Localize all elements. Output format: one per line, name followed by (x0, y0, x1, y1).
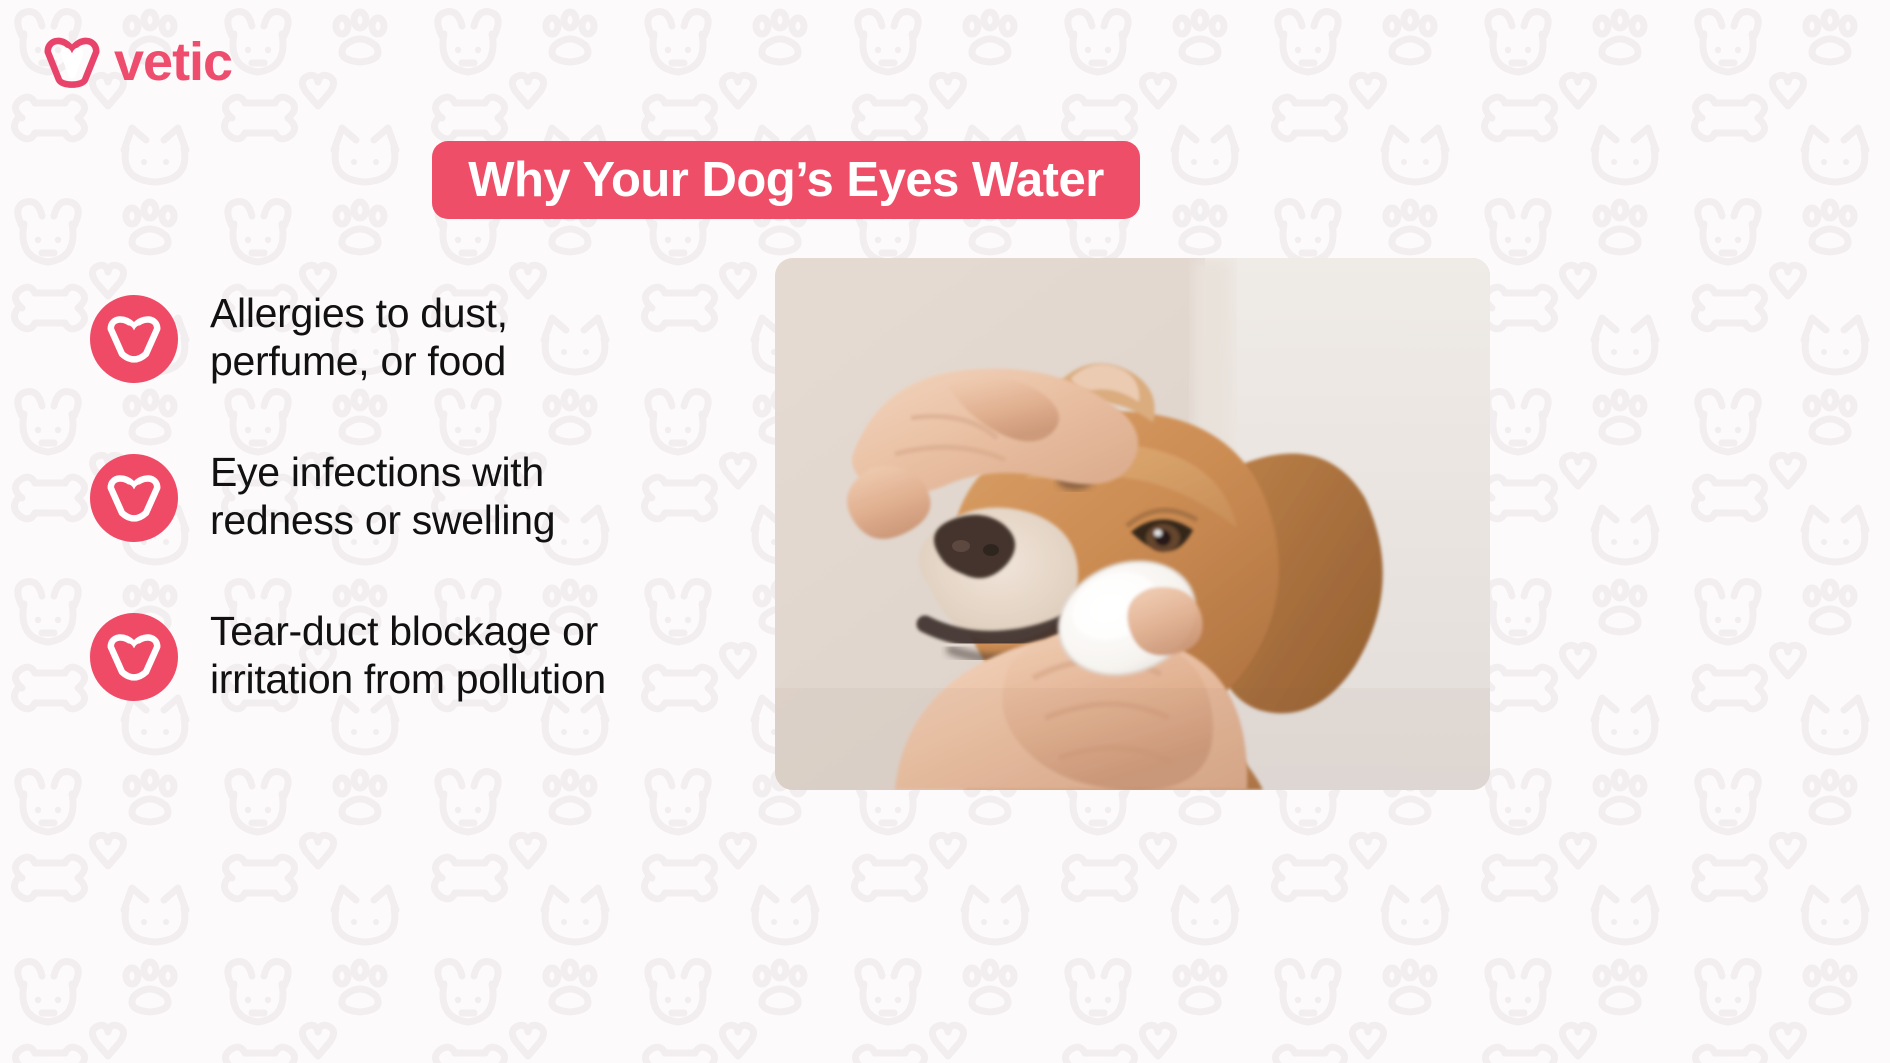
brand-wordmark: vetic (114, 35, 232, 89)
heart-v-icon (90, 295, 178, 383)
page-title: Why Your Dog’s Eyes Water (468, 152, 1104, 208)
reasons-list: Allergies to dust, perfume, or food Eye … (90, 285, 770, 703)
list-item-line1: Eye infections with (210, 448, 555, 496)
heart-v-icon (90, 454, 178, 542)
list-item-text: Eye infections with redness or swelling (210, 444, 555, 545)
list-item-text: Tear-duct blockage or irritation from po… (210, 603, 606, 704)
dog-eye-care-photo (775, 258, 1490, 790)
list-item-line1: Allergies to dust, (210, 289, 508, 337)
list-item: Eye infections with redness or swelling (90, 444, 770, 545)
list-item-line2: perfume, or food (210, 337, 508, 385)
heart-v-icon (90, 613, 178, 701)
list-item-line2: redness or swelling (210, 496, 555, 544)
list-item-line1: Tear-duct blockage or (210, 607, 606, 655)
list-item-text: Allergies to dust, perfume, or food (210, 285, 508, 386)
list-item: Allergies to dust, perfume, or food (90, 285, 770, 386)
page-title-banner: Why Your Dog’s Eyes Water (432, 141, 1140, 219)
heart-v-mark-icon (44, 34, 100, 90)
list-item: Tear-duct blockage or irritation from po… (90, 603, 770, 704)
brand-logo[interactable]: vetic (44, 34, 232, 90)
list-item-line2: irritation from pollution (210, 655, 606, 703)
